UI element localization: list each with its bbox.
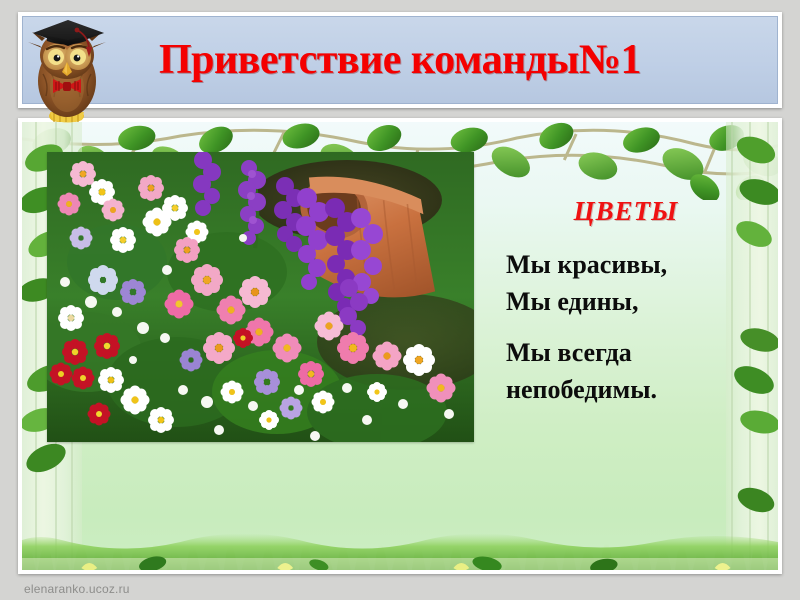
poem-line-3: Мы всегда (492, 335, 760, 372)
page-title: Приветствие команды№1 (22, 36, 778, 84)
owl-graduate-icon (22, 8, 114, 126)
slide-canvas: Приветствие команды№1 (0, 0, 800, 600)
poem-line-1: Мы красивы, (492, 247, 760, 284)
title-bar: Приветствие команды№1 (18, 12, 782, 108)
site-watermark: elenaranko.ucoz.ru (24, 582, 130, 596)
grass-bottom-decoration (22, 480, 778, 570)
flower-garden-photo (47, 152, 474, 442)
poem-heading: ЦВЕТЫ (492, 196, 760, 227)
poem-line-2: Мы едины, (492, 284, 760, 321)
content-panel: ЦВЕТЫ Мы красивы, Мы едины, Мы всегда не… (18, 118, 782, 574)
poem-line-4: непобедимы. (492, 372, 760, 409)
poem-block: ЦВЕТЫ Мы красивы, Мы едины, Мы всегда не… (492, 196, 760, 409)
